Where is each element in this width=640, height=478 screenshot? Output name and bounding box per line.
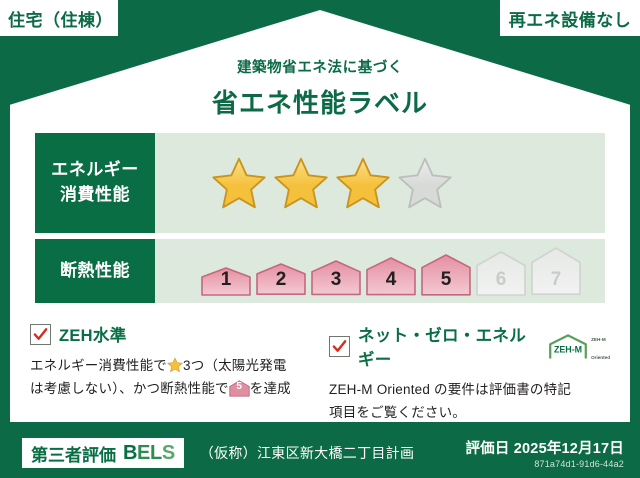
insulation-level-number: 6 bbox=[475, 269, 527, 291]
insulation-level-number: 1 bbox=[200, 269, 252, 291]
star-empty-icon bbox=[396, 155, 454, 211]
row-insulation-performance: 断熱性能 1234567 bbox=[35, 239, 605, 303]
insulation-level-inactive: 6 bbox=[475, 250, 527, 296]
criterion-zeh-text-3: は考慮しない）、かつ断熱性能で bbox=[30, 381, 229, 396]
insulation-scale: 1234567 bbox=[155, 246, 582, 295]
row-energy-value bbox=[155, 133, 605, 233]
insulation-level-active: 1 bbox=[200, 266, 252, 296]
insulation-level-number: 3 bbox=[310, 269, 362, 291]
evaluation-info: 評価日 2025年12月17日 871a74d1-91d6-44a2 bbox=[465, 437, 624, 469]
star-filled-icon bbox=[210, 155, 268, 211]
insulation-level-active: 2 bbox=[255, 262, 307, 295]
inline-house-level-icon: 5 bbox=[229, 380, 250, 397]
bels-logo-jp: 第三者評価 bbox=[31, 441, 116, 466]
checkbox-zeh-standard[interactable] bbox=[30, 324, 51, 345]
bels-letter-s: S bbox=[162, 442, 175, 464]
criterion-net-zero-energy: ネット・ゼロ・エネルギー ZEH-M ZEH-M Oriented ZEH-M … bbox=[329, 322, 610, 424]
zeh-m-caption-line2: Oriented bbox=[591, 355, 610, 360]
bels-letter-e: E bbox=[137, 442, 150, 464]
evaluation-date: 評価日 2025年12月17日 bbox=[465, 437, 624, 458]
title-main: 省エネ性能ラベル bbox=[0, 83, 640, 120]
zeh-m-badge-caption: ZEH-M Oriented bbox=[591, 328, 610, 364]
project-name: （仮称）江東区新大橋二丁目計画 bbox=[200, 443, 415, 463]
star-filled-icon bbox=[334, 155, 392, 211]
performance-rows: エネルギー 消費性能 断熱性能 1234567 bbox=[35, 133, 605, 309]
row-insulation-key-line1: 断熱性能 bbox=[60, 259, 130, 284]
check-icon bbox=[33, 327, 48, 342]
page-title: 建築物省エネ法に基づく 省エネ性能ラベル bbox=[0, 56, 640, 120]
row-insulation-key: 断熱性能 bbox=[35, 239, 155, 303]
row-energy-key: エネルギー 消費性能 bbox=[35, 133, 155, 233]
bels-logo-en: BELS bbox=[123, 442, 175, 465]
insulation-level-active: 3 bbox=[310, 259, 362, 295]
criterion-nze-header: ネット・ゼロ・エネルギー ZEH-M ZEH-M Oriented bbox=[329, 322, 610, 370]
star-filled-icon bbox=[272, 155, 330, 211]
criterion-zeh-standard: ZEH水準 エネルギー消費性能で3つ（太陽光発電 は考慮しない）、かつ断熱性能で… bbox=[30, 322, 311, 424]
row-energy-performance: エネルギー 消費性能 bbox=[35, 133, 605, 233]
criterion-zeh-title: ZEH水準 bbox=[59, 322, 127, 346]
insulation-level-number: 7 bbox=[530, 269, 582, 291]
zeh-m-house-icon: ZEH-M bbox=[548, 333, 588, 360]
badge-building-type: 住宅（住棟） bbox=[0, 0, 118, 36]
evaluation-id: 871a74d1-91d6-44a2 bbox=[465, 459, 624, 469]
title-subtitle: 建築物省エネ法に基づく bbox=[0, 56, 640, 77]
inline-house-level-number: 5 bbox=[229, 382, 250, 392]
badge-building-type-label: 住宅（住棟） bbox=[8, 6, 110, 31]
check-icon bbox=[332, 339, 347, 354]
inline-star-icon bbox=[167, 357, 183, 373]
criterion-zeh-text-1: エネルギー消費性能で bbox=[30, 358, 167, 373]
criteria-section: ZEH水準 エネルギー消費性能で3つ（太陽光発電 は考慮しない）、かつ断熱性能で… bbox=[30, 322, 610, 424]
insulation-level-number: 2 bbox=[255, 269, 307, 291]
footer: 第三者評価 BELS （仮称）江東区新大橋二丁目計画 評価日 2025年12月1… bbox=[0, 428, 640, 478]
criterion-nze-text-2: 項目をご覧ください。 bbox=[329, 405, 466, 420]
criterion-zeh-text-4: を達成 bbox=[250, 381, 291, 396]
badge-renewable-energy: 再エネ設備なし bbox=[500, 0, 640, 36]
insulation-level-number: 5 bbox=[420, 269, 472, 291]
checkbox-net-zero-energy[interactable] bbox=[329, 336, 350, 357]
criterion-zeh-text-2: 3つ（太陽光発電 bbox=[183, 358, 287, 373]
insulation-level-number: 4 bbox=[365, 269, 417, 291]
bels-letter-l: L bbox=[150, 442, 162, 464]
insulation-level-active: 4 bbox=[365, 256, 417, 296]
badge-renewable-energy-label: 再エネ設備なし bbox=[509, 6, 632, 31]
bels-logo: 第三者評価 BELS bbox=[22, 438, 184, 468]
criterion-nze-title: ネット・ゼロ・エネルギー bbox=[358, 322, 536, 370]
row-energy-key-line1: エネルギー bbox=[51, 158, 139, 183]
svg-text:ZEH-M: ZEH-M bbox=[554, 344, 582, 354]
criterion-nze-text-1: ZEH-M Oriented の要件は評価書の特記 bbox=[329, 382, 571, 397]
star-rating bbox=[155, 155, 454, 211]
insulation-level-active: 5 bbox=[420, 253, 472, 296]
row-energy-key-line2: 消費性能 bbox=[60, 183, 130, 208]
criterion-nze-body: ZEH-M Oriented の要件は評価書の特記 項目をご覧ください。 bbox=[329, 378, 610, 424]
energy-label-root: 住宅（住棟） 再エネ設備なし 建築物省エネ法に基づく 省エネ性能ラベル エネルギ… bbox=[0, 0, 640, 478]
zeh-m-badge: ZEH-M ZEH-M Oriented bbox=[548, 328, 610, 364]
bels-letter-b: B bbox=[123, 442, 137, 464]
criterion-zeh-header: ZEH水準 bbox=[30, 322, 311, 346]
insulation-level-inactive: 7 bbox=[530, 246, 582, 295]
zeh-m-caption-line1: ZEH-M bbox=[591, 337, 606, 342]
criterion-zeh-body: エネルギー消費性能で3つ（太陽光発電 は考慮しない）、かつ断熱性能で5を達成 bbox=[30, 354, 311, 400]
row-insulation-value: 1234567 bbox=[155, 239, 605, 303]
